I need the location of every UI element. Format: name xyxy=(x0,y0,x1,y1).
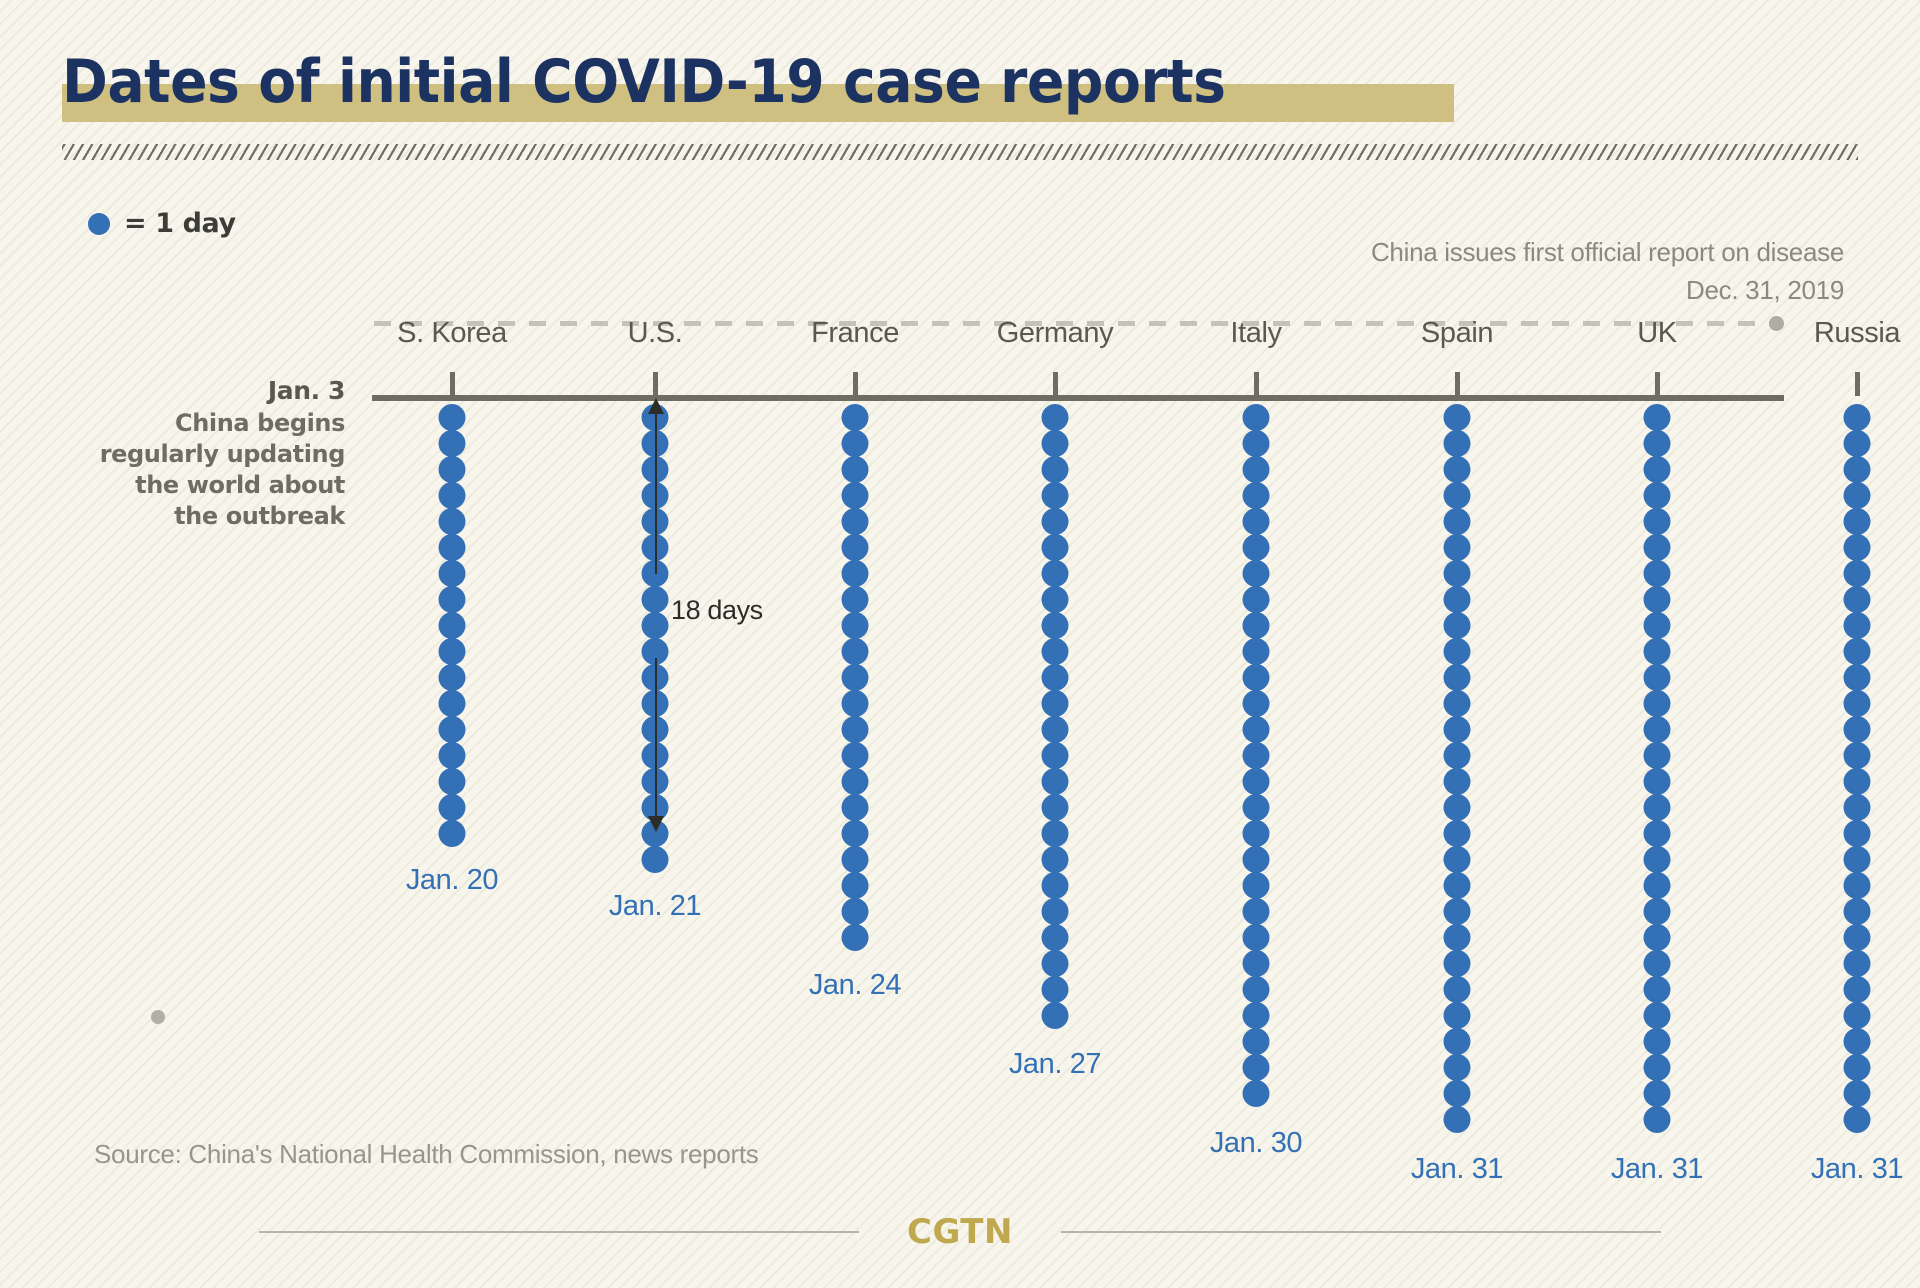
day-dot-icon xyxy=(1644,560,1671,587)
day-dot-stack xyxy=(1844,404,1871,1132)
footer-rule-left xyxy=(259,1231,859,1233)
day-dot-icon xyxy=(1444,976,1471,1003)
day-dot-icon xyxy=(842,534,869,561)
day-dot-icon xyxy=(842,664,869,691)
day-dot-icon xyxy=(1243,560,1270,587)
day-dot-icon xyxy=(842,742,869,769)
day-dot-icon xyxy=(1844,612,1871,639)
day-dot-icon xyxy=(1844,768,1871,795)
day-dot-icon xyxy=(1644,950,1671,977)
day-dot-icon xyxy=(439,716,466,743)
day-dot-icon xyxy=(439,456,466,483)
day-dot-icon xyxy=(1243,404,1270,431)
day-dot-icon xyxy=(1444,820,1471,847)
gap-arrow-shaft-bottom xyxy=(655,658,657,818)
day-dot-icon xyxy=(1644,846,1671,873)
day-dot-icon xyxy=(1042,846,1069,873)
day-dot-icon xyxy=(1844,1028,1871,1055)
legend-label: = 1 day xyxy=(124,208,236,239)
day-dot-icon xyxy=(1243,1028,1270,1055)
day-dot-icon xyxy=(1844,638,1871,665)
day-dot-icon xyxy=(842,794,869,821)
day-dot-icon xyxy=(1444,1054,1471,1081)
day-dot-stack xyxy=(1444,404,1471,1132)
country-label-spain: Spain xyxy=(1421,317,1493,350)
day-dot-icon xyxy=(1444,950,1471,977)
day-dot-icon xyxy=(1844,430,1871,457)
day-dot-icon xyxy=(1644,430,1671,457)
day-dot-icon xyxy=(1844,508,1871,535)
day-dot-icon xyxy=(1042,872,1069,899)
china-first-report-line1: China issues first official report on di… xyxy=(1371,233,1844,271)
day-dot-icon xyxy=(1042,534,1069,561)
day-dot-icon xyxy=(1844,742,1871,769)
day-dot-icon xyxy=(1444,690,1471,717)
day-dot-icon xyxy=(1844,534,1871,561)
gap-arrow xyxy=(655,398,657,832)
day-dot-icon xyxy=(1444,716,1471,743)
legend: = 1 day xyxy=(88,208,236,239)
day-dot-icon xyxy=(1844,950,1871,977)
first-case-date-label: Jan. 21 xyxy=(609,890,701,923)
day-dot-icon xyxy=(1644,456,1671,483)
day-dot-icon xyxy=(1243,482,1270,509)
day-dot-icon xyxy=(1844,1080,1871,1107)
day-dot-icon xyxy=(1644,1080,1671,1107)
day-dot-icon xyxy=(1243,612,1270,639)
baseline-caption: Jan. 3 China beginsregularly updatingthe… xyxy=(45,375,345,532)
day-dot-icon xyxy=(1844,820,1871,847)
day-dot-icon xyxy=(1444,1002,1471,1029)
gap-arrow-label: 18 days xyxy=(671,595,763,626)
day-dot-icon xyxy=(1844,846,1871,873)
day-dot-icon xyxy=(1444,430,1471,457)
day-dot-icon xyxy=(1042,1002,1069,1029)
day-dot-stack xyxy=(1042,404,1069,1028)
day-dot-icon xyxy=(1243,1002,1270,1029)
day-dot-icon xyxy=(1844,716,1871,743)
day-dot-icon xyxy=(1243,456,1270,483)
day-dot-icon xyxy=(1444,404,1471,431)
day-dot-icon xyxy=(439,482,466,509)
day-dot-icon xyxy=(1444,612,1471,639)
day-dot-icon xyxy=(1644,924,1671,951)
first-case-date-label: Jan. 20 xyxy=(406,864,498,897)
day-dot-icon xyxy=(1844,1002,1871,1029)
day-dot-icon xyxy=(1042,716,1069,743)
day-dot-icon xyxy=(1444,1028,1471,1055)
day-dot-icon xyxy=(439,742,466,769)
title-block: Dates of initial COVID-19 case reports xyxy=(62,46,1327,118)
country-label-s-korea: S. Korea xyxy=(397,317,507,350)
title-divider xyxy=(62,144,1858,160)
day-dot-icon xyxy=(1444,846,1471,873)
footer-rule-right xyxy=(1061,1231,1661,1233)
day-dot-icon xyxy=(1042,508,1069,535)
day-dot-icon xyxy=(1243,638,1270,665)
day-dot-icon xyxy=(1243,430,1270,457)
first-case-date-label: Jan. 24 xyxy=(809,969,901,1002)
baseline-axis xyxy=(372,395,1784,401)
day-dot-icon xyxy=(439,690,466,717)
infographic-canvas: Dates of initial COVID-19 case reports =… xyxy=(0,0,1920,1288)
day-dot-icon xyxy=(842,690,869,717)
day-dot-icon xyxy=(842,430,869,457)
day-dot-icon xyxy=(1243,742,1270,769)
day-dot-icon xyxy=(1243,1054,1270,1081)
day-dot-icon xyxy=(1644,664,1671,691)
day-dot-icon xyxy=(439,430,466,457)
day-dot-icon xyxy=(1243,898,1270,925)
country-label-russia: Russia xyxy=(1814,317,1900,350)
day-dot-icon xyxy=(1042,612,1069,639)
day-dot-icon xyxy=(1243,690,1270,717)
day-dot-icon xyxy=(1844,872,1871,899)
day-dot-icon xyxy=(1844,794,1871,821)
gap-arrow-shaft-top xyxy=(655,410,657,574)
day-dot-icon xyxy=(1644,508,1671,535)
day-dot-icon xyxy=(1444,768,1471,795)
day-dot-icon xyxy=(1444,898,1471,925)
day-dot-icon xyxy=(1042,586,1069,613)
day-dot-icon xyxy=(439,612,466,639)
china-first-report-note: China issues first official report on di… xyxy=(1371,233,1844,309)
day-dot-icon xyxy=(1644,534,1671,561)
day-dot-icon xyxy=(1042,482,1069,509)
day-dot-icon xyxy=(1444,794,1471,821)
baseline-date-label: Jan. 3 xyxy=(45,375,345,406)
column-tick-mark xyxy=(653,372,658,396)
day-dot-stack xyxy=(1644,404,1671,1132)
day-dot-icon xyxy=(842,638,869,665)
day-dot-icon xyxy=(1444,638,1471,665)
day-dot-icon xyxy=(1644,872,1671,899)
day-dot-icon xyxy=(1042,560,1069,587)
day-dot-icon xyxy=(1644,690,1671,717)
day-dot-icon xyxy=(1844,1054,1871,1081)
day-dot-icon xyxy=(439,560,466,587)
day-dot-icon xyxy=(842,508,869,535)
day-dot-icon xyxy=(1042,950,1069,977)
day-dot-icon xyxy=(1644,1028,1671,1055)
day-dot-icon xyxy=(1844,898,1871,925)
day-dot-icon xyxy=(439,508,466,535)
day-dot-icon xyxy=(1042,638,1069,665)
day-dot-icon xyxy=(1042,690,1069,717)
day-dot-icon xyxy=(842,820,869,847)
day-dot-icon xyxy=(642,846,669,873)
baseline-caption-line: the world about xyxy=(45,470,345,501)
day-dot-icon xyxy=(1644,404,1671,431)
day-dot-icon xyxy=(439,586,466,613)
day-dot-icon xyxy=(1042,430,1069,457)
day-dot-icon xyxy=(842,898,869,925)
first-case-date-label: Jan. 27 xyxy=(1009,1048,1101,1081)
day-dot-icon xyxy=(1444,586,1471,613)
day-dot-icon xyxy=(1243,950,1270,977)
first-case-date-label: Jan. 31 xyxy=(1411,1153,1503,1186)
day-dot-icon xyxy=(1042,898,1069,925)
day-dot-icon xyxy=(1444,534,1471,561)
day-dot-icon xyxy=(1644,638,1671,665)
day-dot-stack xyxy=(439,404,466,846)
day-dot-icon xyxy=(1444,1106,1471,1133)
day-dot-icon xyxy=(1844,456,1871,483)
day-dot-icon xyxy=(1243,586,1270,613)
column-tick-mark xyxy=(1053,372,1058,396)
day-dot-icon xyxy=(1844,482,1871,509)
day-dot-icon xyxy=(1243,820,1270,847)
day-dot-icon xyxy=(439,664,466,691)
day-dot-icon xyxy=(1444,742,1471,769)
day-dot-icon xyxy=(1644,794,1671,821)
gap-arrow-head-down-icon xyxy=(648,816,664,832)
day-dot-icon xyxy=(1243,846,1270,873)
column-tick-mark xyxy=(1855,372,1860,396)
day-dot-stack xyxy=(842,404,869,950)
day-dot-icon xyxy=(1243,716,1270,743)
day-dot-icon xyxy=(439,794,466,821)
column-tick-mark xyxy=(1655,372,1660,396)
column-tick-mark xyxy=(853,372,858,396)
day-dot-icon xyxy=(1444,560,1471,587)
day-dot-icon xyxy=(1243,794,1270,821)
day-dot-icon xyxy=(1844,404,1871,431)
day-dot-icon xyxy=(1444,508,1471,535)
baseline-caption-line: the outbreak xyxy=(45,501,345,532)
brand-logo: CGTN xyxy=(907,1212,1013,1252)
day-dot-icon xyxy=(1243,872,1270,899)
day-dot-icon xyxy=(1444,482,1471,509)
day-dot-icon xyxy=(1042,664,1069,691)
legend-dot-icon xyxy=(88,213,110,235)
day-dot-icon xyxy=(1042,820,1069,847)
day-dot-icon xyxy=(1042,976,1069,1003)
day-dot-icon xyxy=(1644,768,1671,795)
first-case-date-label: Jan. 31 xyxy=(1611,1153,1703,1186)
day-dot-icon xyxy=(1644,482,1671,509)
day-dot-icon xyxy=(1243,768,1270,795)
decorative-dot-icon xyxy=(151,1010,165,1024)
day-dot-icon xyxy=(439,820,466,847)
baseline-caption-line: regularly updating xyxy=(45,439,345,470)
china-first-report-date: Dec. 31, 2019 xyxy=(1371,271,1844,309)
country-label-u-s: U.S. xyxy=(628,317,683,350)
dashed-connector-end-dot-icon xyxy=(1769,316,1784,331)
day-dot-icon xyxy=(842,612,869,639)
day-dot-icon xyxy=(1243,976,1270,1003)
day-dot-icon xyxy=(1444,456,1471,483)
day-dot-icon xyxy=(1844,924,1871,951)
day-dot-icon xyxy=(1444,872,1471,899)
day-dot-icon xyxy=(1844,976,1871,1003)
day-dot-icon xyxy=(842,846,869,873)
day-dot-icon xyxy=(1042,794,1069,821)
day-dot-icon xyxy=(439,534,466,561)
day-dot-icon xyxy=(1444,1080,1471,1107)
day-dot-icon xyxy=(842,872,869,899)
day-dot-icon xyxy=(842,404,869,431)
day-dot-icon xyxy=(1243,508,1270,535)
day-dot-icon xyxy=(1243,534,1270,561)
day-dot-icon xyxy=(1444,924,1471,951)
day-dot-icon xyxy=(842,456,869,483)
column-tick-mark xyxy=(1254,372,1259,396)
day-dot-icon xyxy=(1644,820,1671,847)
day-dot-icon xyxy=(1042,768,1069,795)
day-dot-icon xyxy=(1844,586,1871,613)
day-dot-icon xyxy=(1644,586,1671,613)
day-dot-icon xyxy=(1444,664,1471,691)
first-case-date-label: Jan. 31 xyxy=(1811,1153,1903,1186)
day-dot-icon xyxy=(439,638,466,665)
country-label-france: France xyxy=(811,317,899,350)
day-dot-icon xyxy=(1644,612,1671,639)
column-tick-mark xyxy=(450,372,455,396)
day-dot-icon xyxy=(1243,1080,1270,1107)
day-dot-icon xyxy=(1042,404,1069,431)
day-dot-icon xyxy=(439,404,466,431)
day-dot-icon xyxy=(842,716,869,743)
day-dot-icon xyxy=(1042,924,1069,951)
country-label-uk: UK xyxy=(1637,317,1677,350)
day-dot-icon xyxy=(842,560,869,587)
day-dot-icon xyxy=(1644,976,1671,1003)
day-dot-icon xyxy=(1844,690,1871,717)
day-dot-icon xyxy=(842,924,869,951)
column-tick-mark xyxy=(1455,372,1460,396)
footer: CGTN xyxy=(0,1212,1920,1252)
day-dot-icon xyxy=(439,768,466,795)
day-dot-icon xyxy=(1844,560,1871,587)
baseline-caption-text: China beginsregularly updatingthe world … xyxy=(45,408,345,532)
first-case-date-label: Jan. 30 xyxy=(1210,1127,1302,1160)
day-dot-icon xyxy=(1644,898,1671,925)
day-dot-icon xyxy=(842,482,869,509)
day-dot-icon xyxy=(1644,1002,1671,1029)
day-dot-icon xyxy=(1644,1106,1671,1133)
day-dot-icon xyxy=(1644,716,1671,743)
day-dot-icon xyxy=(842,768,869,795)
day-dot-icon xyxy=(1042,742,1069,769)
day-dot-icon xyxy=(1243,664,1270,691)
day-dot-stack xyxy=(1243,404,1270,1106)
day-dot-icon xyxy=(1042,456,1069,483)
source-note: Source: China's National Health Commissi… xyxy=(94,1139,758,1170)
day-dot-icon xyxy=(1644,1054,1671,1081)
day-dot-icon xyxy=(1844,1106,1871,1133)
day-dot-icon xyxy=(1243,924,1270,951)
page-title: Dates of initial COVID-19 case reports xyxy=(62,46,1226,118)
baseline-caption-line: China begins xyxy=(45,408,345,439)
day-dot-icon xyxy=(1844,664,1871,691)
country-label-germany: Germany xyxy=(997,317,1113,350)
country-label-italy: Italy xyxy=(1230,317,1281,350)
day-dot-icon xyxy=(1644,742,1671,769)
day-dot-icon xyxy=(842,586,869,613)
